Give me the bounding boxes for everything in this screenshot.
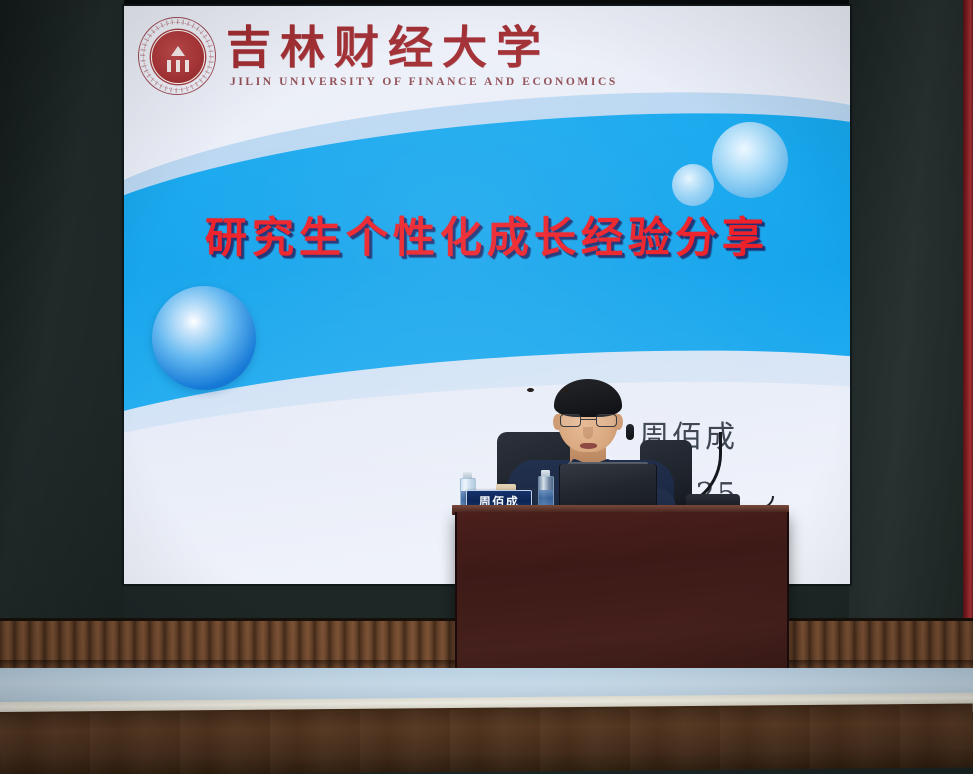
speaker-eye-left bbox=[527, 388, 534, 392]
speaker-eye-right bbox=[562, 388, 569, 392]
auditorium-wall-left bbox=[0, 0, 124, 622]
university-name-en: JILIN UNIVERSITY OF FINANCE AND ECONOMIC… bbox=[230, 76, 618, 88]
sphere-medium-right-icon bbox=[712, 122, 788, 198]
eyeglass-lens-right bbox=[596, 414, 617, 427]
sphere-large-left-icon bbox=[152, 286, 256, 390]
auditorium-wall-right bbox=[849, 0, 965, 628]
speaker-mouth bbox=[580, 443, 597, 449]
sphere-small-right-icon bbox=[672, 164, 714, 206]
seal-gate-emblem-icon bbox=[163, 46, 193, 72]
screenshot-root: 吉林财经大学 JILIN UNIVERSITY OF FINANCE AND E… bbox=[0, 0, 973, 774]
speaker-nose bbox=[583, 427, 593, 439]
university-seal-icon bbox=[138, 17, 216, 95]
microphone-icon bbox=[626, 424, 634, 440]
eyeglass-lens-left bbox=[560, 414, 581, 427]
slide-header: 吉林财经大学 JILIN UNIVERSITY OF FINANCE AND E… bbox=[124, 6, 850, 106]
eyeglass-bridge bbox=[581, 419, 596, 420]
slide-title: 研究生个性化成长经验分享 bbox=[124, 204, 850, 265]
eyeglasses-icon bbox=[560, 414, 617, 427]
university-name-cn: 吉林财经大学 bbox=[226, 24, 618, 71]
seal-red-disc bbox=[151, 30, 205, 84]
wall-red-trim bbox=[963, 0, 973, 630]
university-name-block: 吉林财经大学 JILIN UNIVERSITY OF FINANCE AND E… bbox=[226, 24, 618, 88]
stage-front-wood-grain bbox=[0, 706, 973, 774]
